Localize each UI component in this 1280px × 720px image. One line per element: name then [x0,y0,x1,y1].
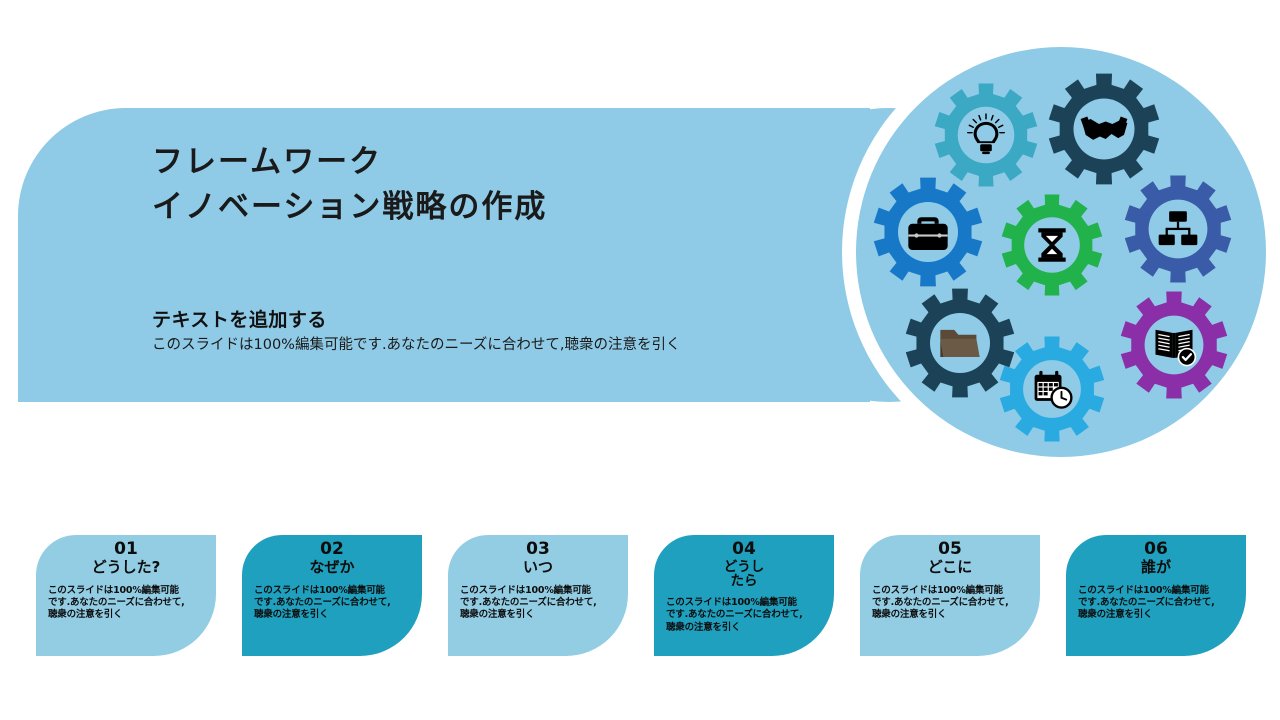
card-title: いつ [458,560,618,576]
card-number: 03 [458,541,618,559]
orgchart-gear [1125,176,1231,283]
card-title: どうした? [46,560,206,576]
folder-gear [906,289,1014,398]
card-title: なぜか [252,560,412,576]
card-number: 05 [870,541,1030,559]
number-card-01[interactable]: 01どうした?このスライドは100%編集可能です.あなたのニーズに合わせて,聴衆… [36,535,216,656]
hourglass-gear [1002,195,1103,296]
card-body: このスライドは100%編集可能です.あなたのニーズに合わせて,聴衆の注意を引く [46,585,206,621]
card-number: 01 [46,541,206,559]
number-card-06[interactable]: 06誰がこのスライドは100%編集可能です.あなたのニーズに合わせて,聴衆の注意… [1066,535,1246,656]
number-card-05[interactable]: 05どこにこのスライドは100%編集可能です.あなたのニーズに合わせて,聴衆の注… [860,535,1040,656]
hero-title-block: フレームワーク イノベーション戦略の作成 [152,140,792,230]
number-card-03[interactable]: 03いつこのスライドは100%編集可能です.あなたのニーズに合わせて,聴衆の注意… [448,535,628,656]
card-body: このスライドは100%編集可能です.あなたのニーズに合わせて,聴衆の注意を引く [664,597,824,633]
hero-subtitle-block: テキストを追加する このスライドは100%編集可能です.あなたのニーズに合わせて… [152,305,712,356]
numbered-cards-row: 01どうした?このスライドは100%編集可能です.あなたのニーズに合わせて,聴衆… [0,535,1280,660]
card-body: このスライドは100%編集可能です.あなたのニーズに合わせて,聴衆の注意を引く [252,585,412,621]
card-title: 誰が [1076,560,1236,576]
gear-icons-svg [856,47,1266,457]
card-number: 02 [252,541,412,559]
lightbulb-gear [935,84,1038,187]
card-body: このスライドは100%編集可能です.あなたのニーズに合わせて,聴衆の注意を引く [1076,585,1236,621]
hero-sub-body: このスライドは100%編集可能です.あなたのニーズに合わせて,聴衆の注意を引く [152,335,682,356]
number-card-04[interactable]: 04どうしたらこのスライドは100%編集可能です.あなたのニーズに合わせて,聴衆… [654,535,834,656]
number-card-02[interactable]: 02なぜかこのスライドは100%編集可能です.あなたのニーズに合わせて,聴衆の注… [242,535,422,656]
hero-sub-heading: テキストを追加する [152,305,712,332]
card-body: このスライドは100%編集可能です.あなたのニーズに合わせて,聴衆の注意を引く [870,585,1030,621]
calendar-gear [1000,337,1104,442]
hero-title-line-1: フレームワーク [152,140,792,185]
briefcase-gear [874,178,982,287]
card-number: 06 [1076,541,1236,559]
card-number: 04 [664,541,824,559]
card-body: このスライドは100%編集可能です.あなたのニーズに合わせて,聴衆の注意を引く [458,585,618,621]
book-check-gear [1121,292,1227,399]
handshake-gear [1049,74,1159,185]
card-title: どうしたら [664,560,824,588]
hero-title-line-2: イノベーション戦略の作成 [152,185,792,230]
card-title: どこに [870,560,1030,576]
gear-cluster-graphic [856,47,1266,457]
